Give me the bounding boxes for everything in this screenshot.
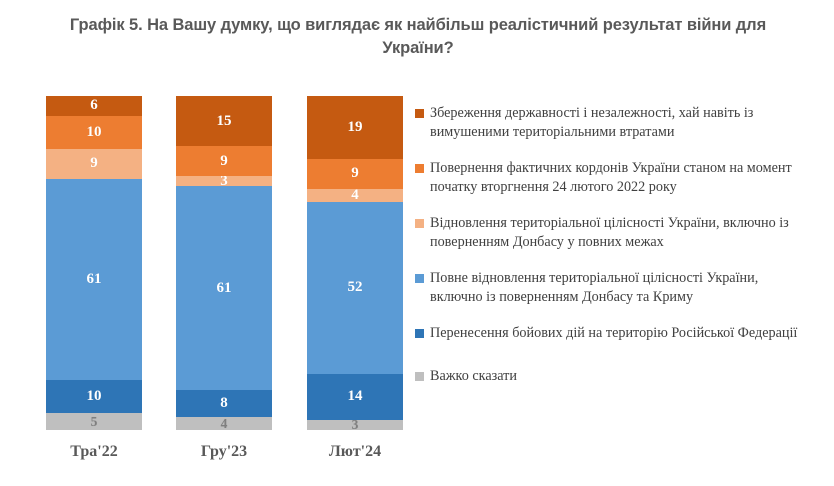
- legend-item[interactable]: Відновлення територіальної цілісності Ук…: [415, 214, 830, 252]
- bar-segment[interactable]: 4: [307, 189, 403, 202]
- legend-item[interactable]: Збереження державності і незалежності, х…: [415, 104, 830, 142]
- bar-stack: 15936184: [176, 96, 272, 430]
- bar-segment-value: 10: [87, 125, 102, 140]
- bar-segment[interactable]: 10: [46, 116, 142, 149]
- bar-segment[interactable]: 8: [176, 390, 272, 417]
- category-label-1: Гру'23: [176, 443, 272, 461]
- legend-item[interactable]: Важко сказати: [415, 367, 830, 387]
- bar-segment[interactable]: 9: [176, 146, 272, 176]
- bar-column-Лют'24: 199452143: [307, 96, 403, 430]
- chart-container: Графік 5. На Вашу думку, що виглядає як …: [0, 0, 834, 486]
- bar-segment-value: 14: [348, 389, 363, 404]
- chart-legend: Збереження державності і незалежності, х…: [415, 104, 830, 404]
- bar-segment-value: 9: [351, 166, 359, 181]
- bar-segment[interactable]: 5: [46, 413, 142, 430]
- bar-segment-value: 61: [87, 272, 102, 287]
- legend-label: Перенесення бойових дій на територію Рос…: [430, 324, 797, 343]
- legend-swatch-icon: [415, 372, 424, 381]
- bar-segment-value: 5: [91, 415, 98, 429]
- bar-segment-value: 3: [220, 176, 228, 186]
- bar-segment[interactable]: 3: [176, 176, 272, 186]
- category-label-2: Лют'24: [307, 443, 403, 461]
- page-title: Графік 5. На Вашу думку, що виглядає як …: [48, 14, 788, 60]
- legend-label: Збереження державності і незалежності, х…: [430, 104, 812, 142]
- bar-segment[interactable]: 14: [307, 374, 403, 420]
- bar-segment[interactable]: 19: [307, 96, 403, 159]
- legend-swatch-icon: [415, 219, 424, 228]
- bar-segment[interactable]: 61: [46, 179, 142, 381]
- bar-segment-value: 10: [87, 389, 102, 404]
- legend-label: Повернення фактичних кордонів України ст…: [430, 159, 812, 197]
- legend-swatch-icon: [415, 329, 424, 338]
- bar-column-Тра'22: 610961105: [46, 96, 142, 430]
- bar-segment-value: 61: [217, 281, 232, 296]
- legend-swatch-icon: [415, 274, 424, 283]
- legend-label: Важко сказати: [430, 367, 517, 386]
- bar-segment-value: 4: [351, 189, 359, 202]
- bar-segment-value: 4: [221, 417, 228, 430]
- legend-item[interactable]: Повернення фактичних кордонів України ст…: [415, 159, 830, 197]
- legend-swatch-icon: [415, 109, 424, 118]
- bar-segment-value: 15: [217, 114, 232, 129]
- bar-segment[interactable]: 9: [307, 159, 403, 189]
- legend-item[interactable]: Повне відновлення територіальної цілісно…: [415, 269, 830, 307]
- plot-area: 61096110515936184199452143: [0, 96, 410, 441]
- bar-segment-value: 8: [220, 396, 228, 411]
- bar-segment[interactable]: 52: [307, 202, 403, 374]
- bar-segment-value: 3: [352, 420, 359, 430]
- bar-segment[interactable]: 15: [176, 96, 272, 146]
- category-axis: Тра'22Гру'23Лют'24: [0, 443, 410, 473]
- category-label-0: Тра'22: [46, 443, 142, 461]
- legend-label: Повне відновлення територіальної цілісно…: [430, 269, 812, 307]
- bar-segment-value: 19: [348, 120, 363, 135]
- legend-swatch-icon: [415, 164, 424, 173]
- bar-column-Гру'23: 15936184: [176, 96, 272, 430]
- bar-segment[interactable]: 61: [176, 186, 272, 390]
- bar-segment[interactable]: 10: [46, 380, 142, 413]
- bar-segment-value: 9: [90, 156, 98, 171]
- bar-stack: 199452143: [307, 96, 403, 430]
- legend-label: Відновлення територіальної цілісності Ук…: [430, 214, 812, 252]
- bar-segment[interactable]: 4: [176, 417, 272, 430]
- legend-item[interactable]: Перенесення бойових дій на територію Рос…: [415, 324, 830, 350]
- bar-segment-value: 6: [90, 98, 98, 113]
- bar-segment[interactable]: 9: [46, 149, 142, 179]
- bar-stack: 610961105: [46, 96, 142, 430]
- bar-segment-value: 9: [220, 154, 228, 169]
- bar-segment[interactable]: 6: [46, 96, 142, 116]
- bar-segment[interactable]: 3: [307, 420, 403, 430]
- bar-segment-value: 52: [348, 280, 363, 295]
